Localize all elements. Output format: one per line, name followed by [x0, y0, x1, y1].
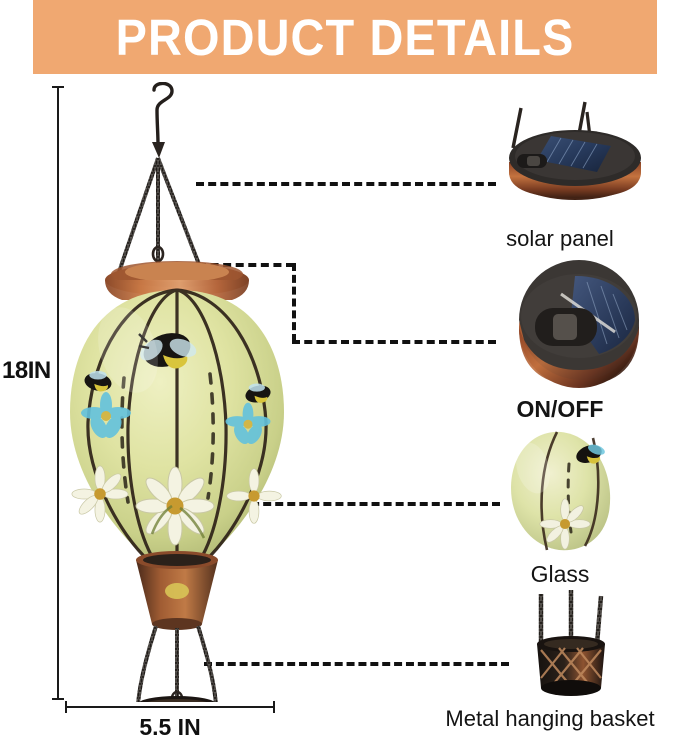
inset-solar-panel-image	[489, 100, 661, 208]
switch-toggle-icon	[553, 314, 577, 340]
height-dimension-label: 18IN	[2, 357, 51, 385]
header-banner: PRODUCT DETAILS	[33, 0, 657, 74]
product-main-image	[62, 82, 292, 702]
product-details-infographic: PRODUCT DETAILS 18IN 5.5 IN	[0, 0, 679, 746]
chain-icon	[541, 590, 601, 644]
callout-label-metal-basket: Metal hanging basket	[424, 706, 676, 732]
horizontal-ruler-icon	[65, 706, 275, 708]
dashed-connector-onoff-seg3	[292, 340, 496, 344]
vertical-ruler-icon	[57, 86, 59, 700]
callout-label-onoff: ON/OFF	[450, 396, 670, 423]
metal-hanging-basket	[138, 696, 216, 702]
chain-icon-upper	[119, 158, 202, 272]
chain-icon-basket	[138, 626, 216, 702]
inset-glass-image	[497, 428, 625, 554]
callout-label-solar-panel: solar panel	[450, 226, 670, 252]
dashed-connector-onoff-seg2	[292, 263, 296, 342]
s-hook-icon	[152, 83, 172, 158]
inset-onoff-switch-image	[495, 258, 665, 388]
hot-air-balloon-lantern-illustration	[62, 82, 292, 702]
inset-metal-basket-image	[517, 588, 627, 700]
width-dimension-label: 5.5 IN	[65, 714, 275, 741]
glass-balloon-body	[70, 290, 284, 560]
copper-funnel-burner	[136, 551, 218, 630]
brand-emblem	[165, 583, 189, 599]
callout-label-glass: Glass	[450, 561, 670, 588]
page-title: PRODUCT DETAILS	[58, 0, 632, 74]
